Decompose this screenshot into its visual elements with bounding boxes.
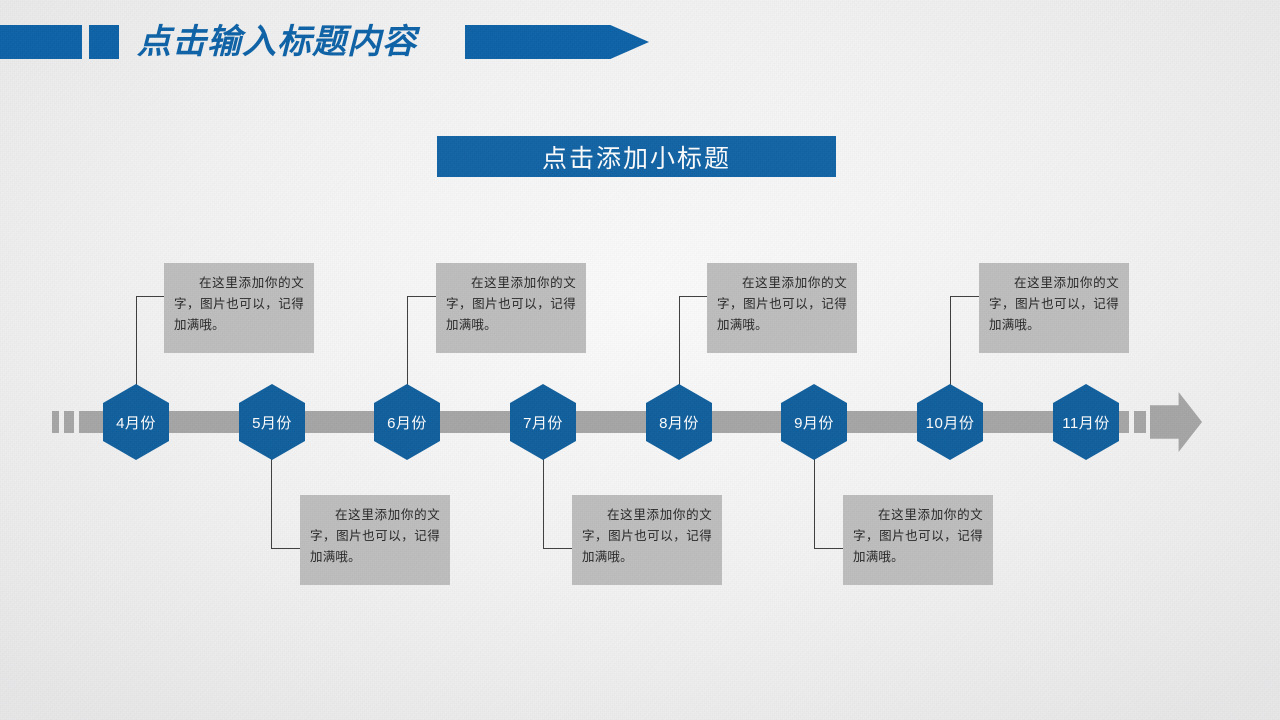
connector-line-1-vertical <box>136 296 137 386</box>
timeline-node-label: 9月份 <box>794 412 834 433</box>
callout-box[interactable]: 在这里添加你的文字，图片也可以，记得加满哦。 <box>843 495 993 585</box>
timeline-node-hexagon[interactable]: 8月份 <box>646 384 712 460</box>
slide-canvas: 点击输入标题内容 点击添加小标题 <box>0 0 1280 720</box>
timeline-node-hexagon[interactable]: 5月份 <box>239 384 305 460</box>
timeline-dash-right-2 <box>1134 411 1146 433</box>
callout-text: 在这里添加你的文字，图片也可以，记得加满哦。 <box>853 505 983 568</box>
timeline-node-hexagon[interactable]: 6月份 <box>374 384 440 460</box>
callout-text: 在这里添加你的文字，图片也可以，记得加满哦。 <box>446 273 576 336</box>
timeline-arrow-icon <box>1150 392 1202 452</box>
connector-line-7-vertical <box>950 296 951 386</box>
timeline-node-hexagon[interactable]: 4月份 <box>103 384 169 460</box>
timeline-node-label: 6月份 <box>387 412 427 433</box>
callout-box[interactable]: 在这里添加你的文字，图片也可以，记得加满哦。 <box>164 263 314 353</box>
connector-line-6-vertical <box>814 459 815 549</box>
connector-line-5-vertical <box>679 296 680 386</box>
timeline-node-label: 10月份 <box>926 412 975 433</box>
connector-line-2-vertical <box>271 459 272 549</box>
callout-box[interactable]: 在这里添加你的文字，图片也可以，记得加满哦。 <box>436 263 586 353</box>
timeline-node-label: 4月份 <box>116 412 156 433</box>
callout-box[interactable]: 在这里添加你的文字，图片也可以，记得加满哦。 <box>707 263 857 353</box>
timeline: 在这里添加你的文字，图片也可以，记得加满哦。 在这里添加你的文字，图片也可以，记… <box>0 0 1280 720</box>
timeline-dash-left-3 <box>79 411 93 433</box>
callout-text: 在这里添加你的文字，图片也可以，记得加满哦。 <box>582 505 712 568</box>
callout-box[interactable]: 在这里添加你的文字，图片也可以，记得加满哦。 <box>300 495 450 585</box>
callout-box[interactable]: 在这里添加你的文字，图片也可以，记得加满哦。 <box>572 495 722 585</box>
callout-text: 在这里添加你的文字，图片也可以，记得加满哦。 <box>989 273 1119 336</box>
timeline-dash-left-1 <box>52 411 59 433</box>
connector-line-4-vertical <box>543 459 544 549</box>
timeline-node-label: 11月份 <box>1062 412 1110 433</box>
timeline-node-hexagon[interactable]: 11月份 <box>1053 384 1119 460</box>
callout-box[interactable]: 在这里添加你的文字，图片也可以，记得加满哦。 <box>979 263 1129 353</box>
timeline-node-hexagon[interactable]: 10月份 <box>917 384 983 460</box>
timeline-node-label: 8月份 <box>659 412 699 433</box>
timeline-node-label: 5月份 <box>252 412 292 433</box>
timeline-node-hexagon[interactable]: 7月份 <box>510 384 576 460</box>
timeline-node-hexagon[interactable]: 9月份 <box>781 384 847 460</box>
connector-line-3-vertical <box>407 296 408 386</box>
callout-text: 在这里添加你的文字，图片也可以，记得加满哦。 <box>174 273 304 336</box>
timeline-dash-left-2 <box>64 411 74 433</box>
callout-text: 在这里添加你的文字，图片也可以，记得加满哦。 <box>310 505 440 568</box>
callout-text: 在这里添加你的文字，图片也可以，记得加满哦。 <box>717 273 847 336</box>
timeline-node-label: 7月份 <box>523 412 563 433</box>
